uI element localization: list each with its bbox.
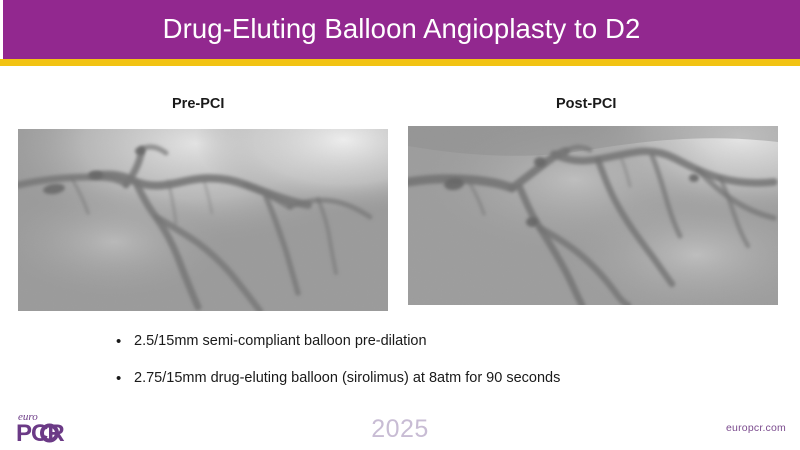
slide: Drug-Eluting Balloon Angioplasty to D2 P… [0,0,800,450]
page-title: Drug-Eluting Balloon Angioplasty to D2 [163,15,641,45]
bullet-text: 2.75/15mm drug-eluting balloon (sirolimu… [134,369,560,388]
panel-caption-post: Post-PCI [556,96,616,112]
angiogram-post-graphic [408,126,778,305]
bullet-list: • 2.5/15mm semi-compliant balloon pre-di… [110,332,710,406]
year-label: 2025 [0,415,800,444]
bullet-text: 2.5/15mm semi-compliant balloon pre-dila… [134,332,427,351]
list-item: • 2.75/15mm drug-eluting balloon (siroli… [110,369,710,388]
bullet-marker-icon: • [110,332,134,351]
title-bar: Drug-Eluting Balloon Angioplasty to D2 [3,0,800,59]
angiogram-pre-graphic [18,129,388,311]
coronary-angiogram-pre-pci [18,129,388,311]
list-item: • 2.5/15mm semi-compliant balloon pre-di… [110,332,710,351]
accent-stripe [0,59,800,66]
website-url[interactable]: europcr.com [726,422,786,434]
bullet-marker-icon: • [110,369,134,388]
panel-caption-pre: Pre-PCI [172,96,224,112]
coronary-angiogram-post-pci [408,126,778,305]
